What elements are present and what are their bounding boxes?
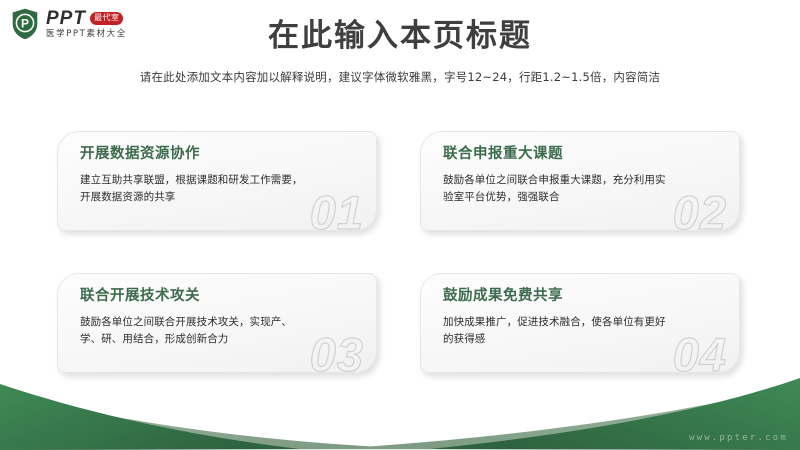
card-title: 联合开展技术攻关 (80, 287, 360, 305)
info-card-02[interactable]: 联合申报重大课题 鼓励各单位之间联合申报重大课题，充分利用实验室平台优势，强强联… (420, 131, 740, 231)
card-number-badge: 01 (310, 189, 364, 231)
card-number-badge: 03 (310, 331, 364, 373)
card-number-badge: 02 (673, 189, 727, 231)
card-grid: 开展数据资源协作 建立互助共享联盟，根据课题和研发工作需要，开展数据资源的共享 … (57, 131, 747, 373)
green-swoosh-shapes (0, 378, 800, 450)
page-title: 在此输入本页标题 (0, 16, 800, 56)
site-watermark: www.ppter.com (689, 432, 788, 444)
card-title: 鼓励成果免费共享 (443, 287, 723, 305)
info-card-01[interactable]: 开展数据资源协作 建立互助共享联盟，根据课题和研发工作需要，开展数据资源的共享 … (57, 131, 377, 231)
info-card-03[interactable]: 联合开展技术攻关 鼓励各单位之间联合开展技术攻关，实现产、学、研、用结合，形成创… (57, 273, 377, 373)
slide-canvas: P PPT 最代室 医学PPT素材大全 在此输入本页标题 请在此处添加文本内容加… (0, 0, 800, 450)
card-body: 鼓励各单位之间联合开展技术攻关，实现产、学、研、用结合，形成创新合力 (80, 314, 306, 348)
card-body: 建立互助共享联盟，根据课题和研发工作需要，开展数据资源的共享 (80, 172, 306, 206)
card-title: 开展数据资源协作 (80, 145, 360, 163)
bottom-decoration: www.ppter.com (0, 378, 800, 450)
card-body: 鼓励各单位之间联合申报重大课题，充分利用实验室平台优势，强强联合 (443, 172, 669, 206)
page-subtitle: 请在此处添加文本内容加以解释说明，建议字体微软雅黑，字号12~24，行距1.2~… (0, 68, 800, 86)
card-number-badge: 04 (673, 331, 727, 373)
info-card-04[interactable]: 鼓励成果免费共享 加快成果推广，促进技术融合，使各单位有更好的获得感 04 (420, 273, 740, 373)
card-body: 加快成果推广，促进技术融合，使各单位有更好的获得感 (443, 314, 669, 348)
card-title: 联合申报重大课题 (443, 145, 723, 163)
